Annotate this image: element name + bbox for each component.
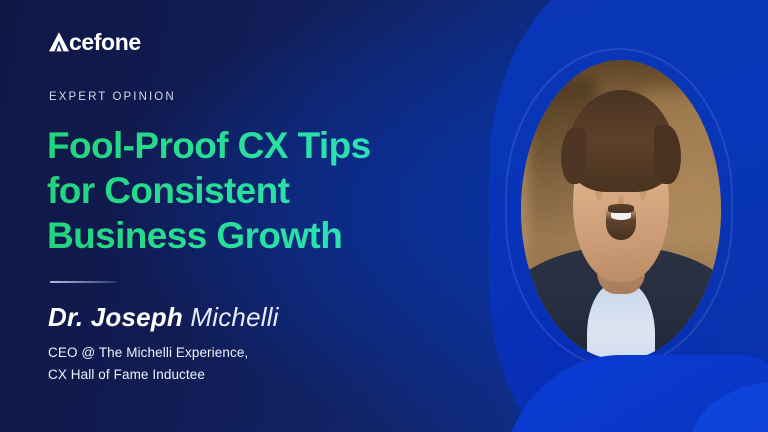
- speaker-name-first: Dr. Joseph: [48, 302, 183, 332]
- promo-banner: cefone EXPERT OPINION Fool-Proof CX Tips…: [0, 0, 768, 432]
- triangle-a-icon: [48, 31, 70, 53]
- speaker-role: CEO @ The Michelli Experience, CX Hall o…: [48, 342, 248, 386]
- headline-line-3: Business Growth: [47, 214, 467, 259]
- headline-line-2: for Consistent: [47, 169, 467, 214]
- speaker-portrait: [521, 60, 721, 360]
- acefone-logo[interactable]: cefone: [48, 28, 143, 56]
- speaker-name-last: Michelli: [190, 302, 278, 332]
- logo-wordmark: cefone: [69, 31, 141, 54]
- speaker-role-line-1: CEO @ The Michelli Experience,: [48, 342, 248, 364]
- headline-line-1: Fool-Proof CX Tips: [47, 124, 467, 169]
- portrait-moustache: [608, 204, 635, 213]
- divider-rule: [50, 281, 116, 283]
- speaker-name: Dr. Joseph Michelli: [48, 302, 279, 333]
- page-title: Fool-Proof CX Tips for Consistent Busine…: [47, 124, 467, 258]
- speaker-role-line-2: CX Hall of Fame Inductee: [48, 364, 248, 386]
- eyebrow-label: EXPERT OPINION: [49, 91, 176, 103]
